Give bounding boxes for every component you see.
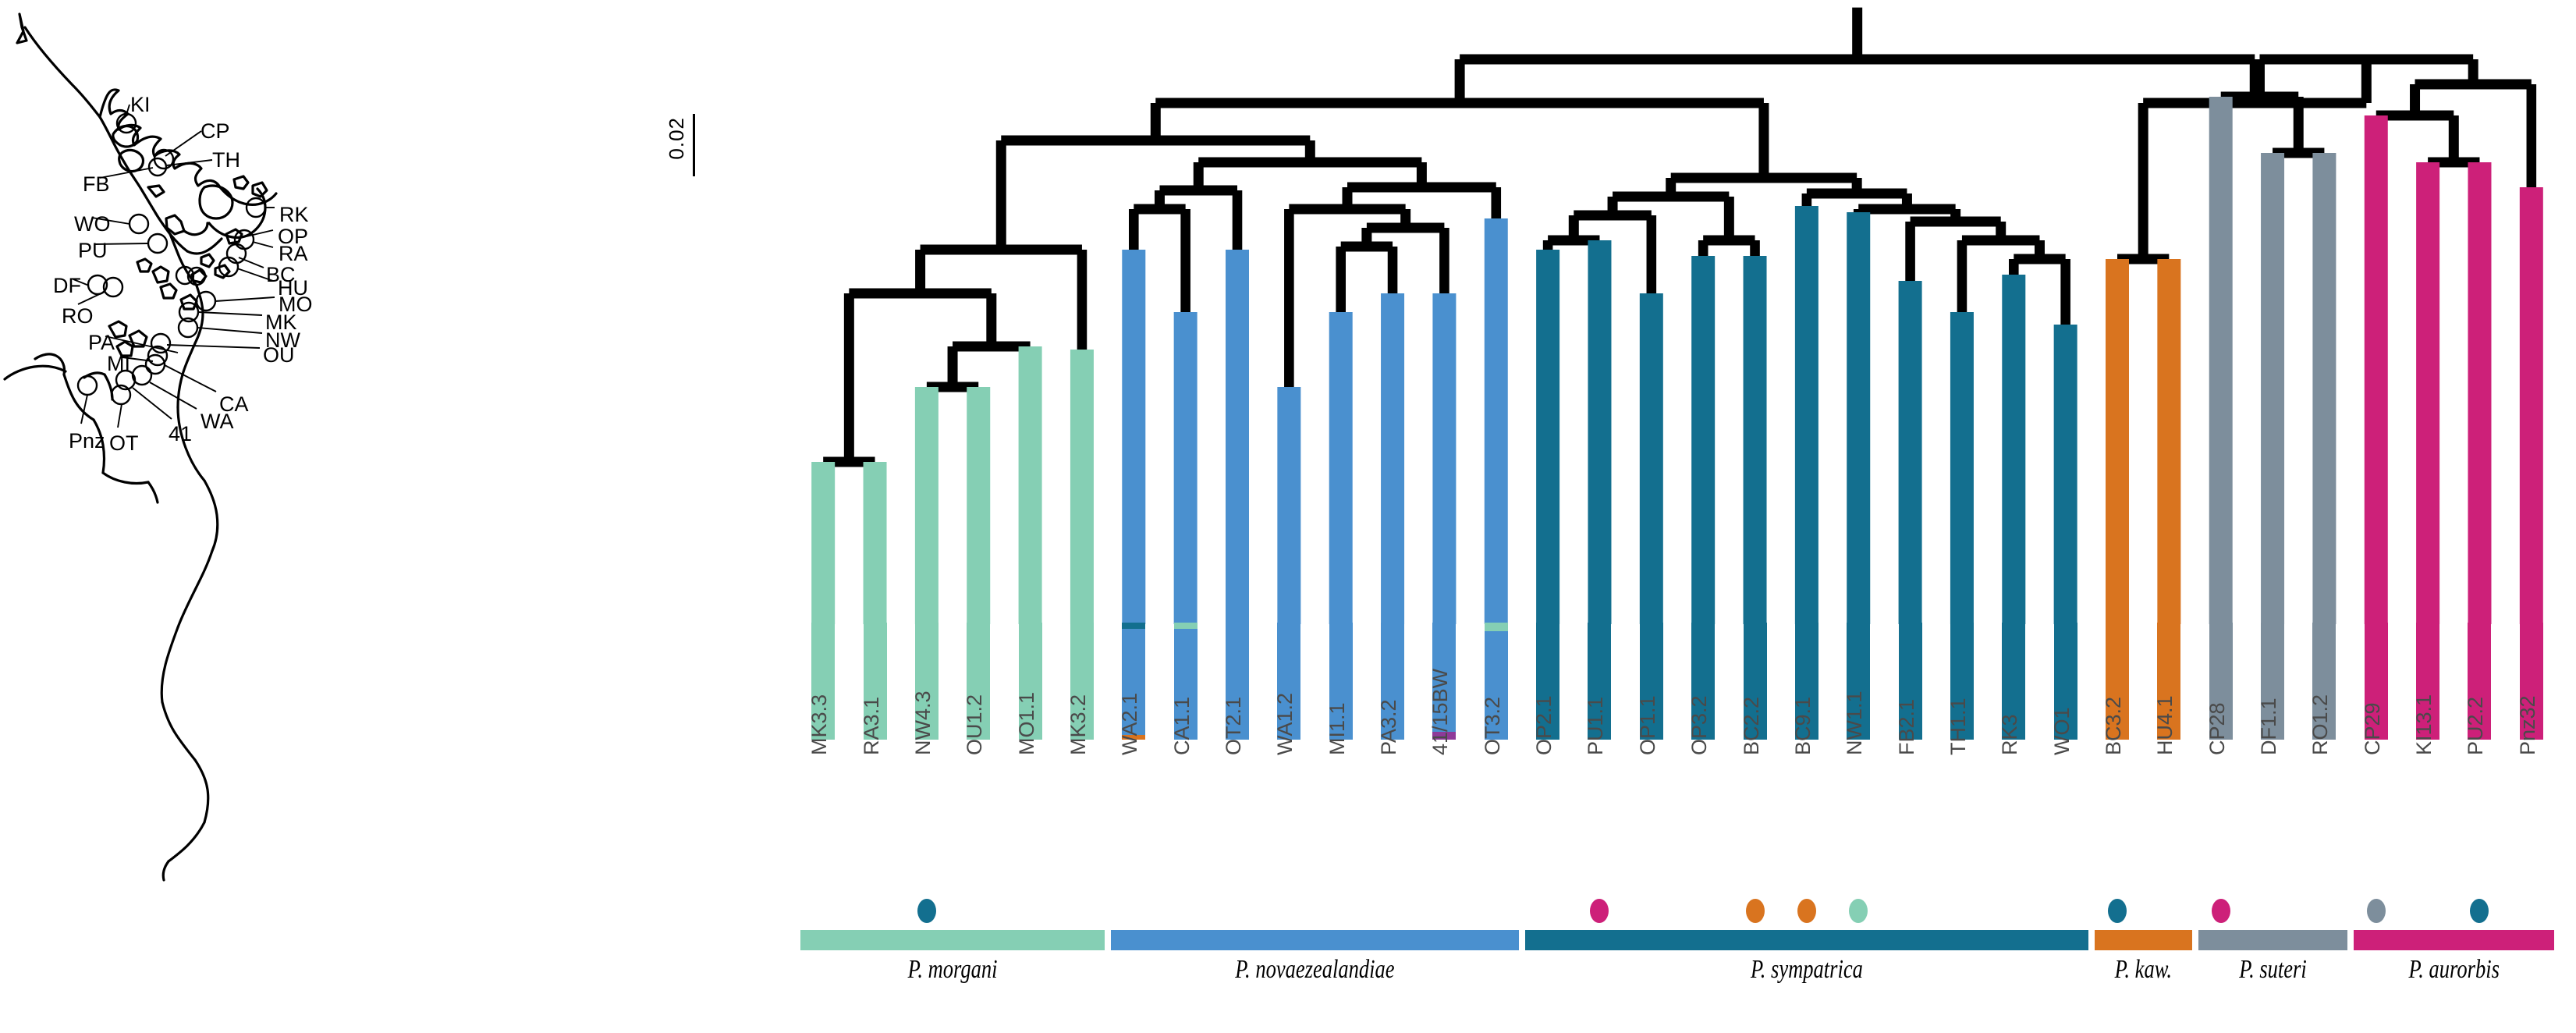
tip-label: OU1.2 bbox=[963, 694, 987, 755]
tip-label: NW1.1 bbox=[1843, 690, 1867, 755]
map-site-label-ou: OU bbox=[263, 343, 295, 367]
map-site-label-df: DF bbox=[53, 274, 81, 298]
clade-name-sympatrica: P. sympatrica bbox=[1587, 955, 2026, 985]
sampling-dot bbox=[2470, 899, 2489, 923]
tip-label: BC3.2 bbox=[2102, 697, 2126, 755]
coastline-path bbox=[5, 14, 276, 880]
admixture-segment bbox=[1122, 623, 1145, 629]
tip-label: RO1.2 bbox=[2308, 694, 2333, 755]
tip-label: BC9.1 bbox=[1791, 697, 1815, 755]
admixture-segment bbox=[1485, 623, 1508, 631]
tip-label: MK3.3 bbox=[807, 694, 832, 755]
sampling-dot bbox=[917, 899, 936, 923]
tip-label: RA3.1 bbox=[860, 697, 884, 755]
tip-label: Pnz32 bbox=[2516, 695, 2540, 755]
tip-label: OP3.2 bbox=[1687, 695, 1712, 755]
clade-bar-kawau bbox=[2095, 930, 2192, 950]
clade-name-aurorbis: P. aurorbis bbox=[2376, 955, 2532, 985]
clade-name-suteri: P. suteri bbox=[2215, 955, 2331, 985]
map-site-label-th: TH bbox=[212, 148, 240, 172]
map-panel: KICPTHFBRKOPWORAPUBCHUDFMOROMKNWPAOUMICA… bbox=[0, 0, 624, 1033]
sampling-dot-group bbox=[624, 897, 2576, 928]
tip-label: OP1.1 bbox=[1636, 695, 1660, 755]
map-svg bbox=[0, 0, 624, 1033]
tree-admixture-panel: 0.02 MK3.3RA3.1NW4.3OU1.2MO1.1MK3.2WA2.1… bbox=[624, 0, 2576, 1033]
clade-bar-novaezealandiae bbox=[1111, 930, 1519, 950]
map-site-label-mi: MI bbox=[107, 352, 130, 376]
clade-legend-group: P. morganiP. novaezealandiaeP. sympatric… bbox=[624, 930, 2576, 1033]
clade-name-novaezealandiae: P. novaezealandiae bbox=[1156, 955, 1474, 985]
admixture-segment bbox=[1174, 623, 1198, 629]
map-site-label-pnz: Pnz bbox=[69, 429, 105, 453]
sampling-dot bbox=[1849, 899, 1868, 923]
tip-label: MO1.1 bbox=[1015, 692, 1039, 755]
sampling-dot bbox=[1797, 899, 1816, 923]
tip-label: 41/15BW bbox=[1428, 669, 1453, 755]
sampling-dot bbox=[1590, 899, 1609, 923]
map-site-label-41: 41 bbox=[169, 422, 192, 446]
sampling-dot bbox=[2367, 899, 2386, 923]
map-site-label-pu: PU bbox=[78, 239, 108, 263]
sampling-dot bbox=[2108, 899, 2127, 923]
tip-label: OT3.2 bbox=[1481, 697, 1505, 755]
tip-label: TH1.1 bbox=[1946, 698, 1971, 755]
figure-root: KICPTHFBRKOPWORAPUBCHUDFMOROMKNWPAOUMICA… bbox=[0, 0, 2576, 1033]
sampling-dot bbox=[2212, 899, 2230, 923]
clade-bar-aurorbis bbox=[2354, 930, 2554, 950]
map-site-label-ro: RO bbox=[62, 304, 94, 328]
tip-label: CP28 bbox=[2205, 702, 2230, 755]
clade-name-morgani: P. morgani bbox=[834, 955, 1071, 985]
tip-label: MK3.2 bbox=[1066, 694, 1091, 755]
tip-label: HU4.1 bbox=[2153, 695, 2177, 755]
map-site-label-cp: CP bbox=[200, 119, 230, 144]
tip-label: CP29 bbox=[2361, 702, 2385, 755]
map-site-label-fb: FB bbox=[83, 172, 110, 197]
clade-bar-sympatrica bbox=[1525, 930, 2088, 950]
clade-bar-morgani bbox=[800, 930, 1105, 950]
tip-label: NW4.3 bbox=[911, 690, 935, 755]
tip-label: PU2.2 bbox=[2464, 697, 2488, 755]
tip-label: WA1.2 bbox=[1273, 693, 1297, 755]
clade-name-kawau: P. kaw. bbox=[2106, 955, 2181, 985]
tip-label: PA3.2 bbox=[1377, 699, 1401, 755]
tip-label: KI13.1 bbox=[2412, 694, 2436, 755]
map-site-label-rk: RK bbox=[279, 203, 309, 227]
tip-label-group: MK3.3RA3.1NW4.3OU1.2MO1.1MK3.2WA2.1CA1.1… bbox=[624, 755, 2576, 903]
tip-label: RK3 bbox=[1998, 714, 2022, 755]
map-site-label-ki: KI bbox=[130, 93, 151, 117]
tip-label: CA1.1 bbox=[1170, 697, 1194, 755]
tip-label: MI1.1 bbox=[1325, 702, 1350, 755]
tip-label: BC2.2 bbox=[1740, 697, 1764, 755]
map-site-label-wa: WA bbox=[200, 410, 234, 434]
tip-label: WA2.1 bbox=[1118, 693, 1142, 755]
tip-label: DF1.1 bbox=[2257, 698, 2281, 755]
clade-bar-suteri bbox=[2198, 930, 2347, 950]
tip-label: WO1 bbox=[2050, 707, 2074, 755]
sampling-dot bbox=[1746, 899, 1765, 923]
tip-label: OP2.1 bbox=[1532, 695, 1556, 755]
map-site-label-ot: OT bbox=[109, 431, 139, 456]
tip-label: PU1.1 bbox=[1584, 697, 1608, 755]
tip-label: OT2.1 bbox=[1222, 697, 1246, 755]
tip-label: FB2.1 bbox=[1895, 699, 1919, 755]
phylogeny-svg bbox=[624, 0, 2576, 640]
map-site-label-wo: WO bbox=[74, 212, 111, 236]
map-leader-lines bbox=[73, 105, 275, 428]
